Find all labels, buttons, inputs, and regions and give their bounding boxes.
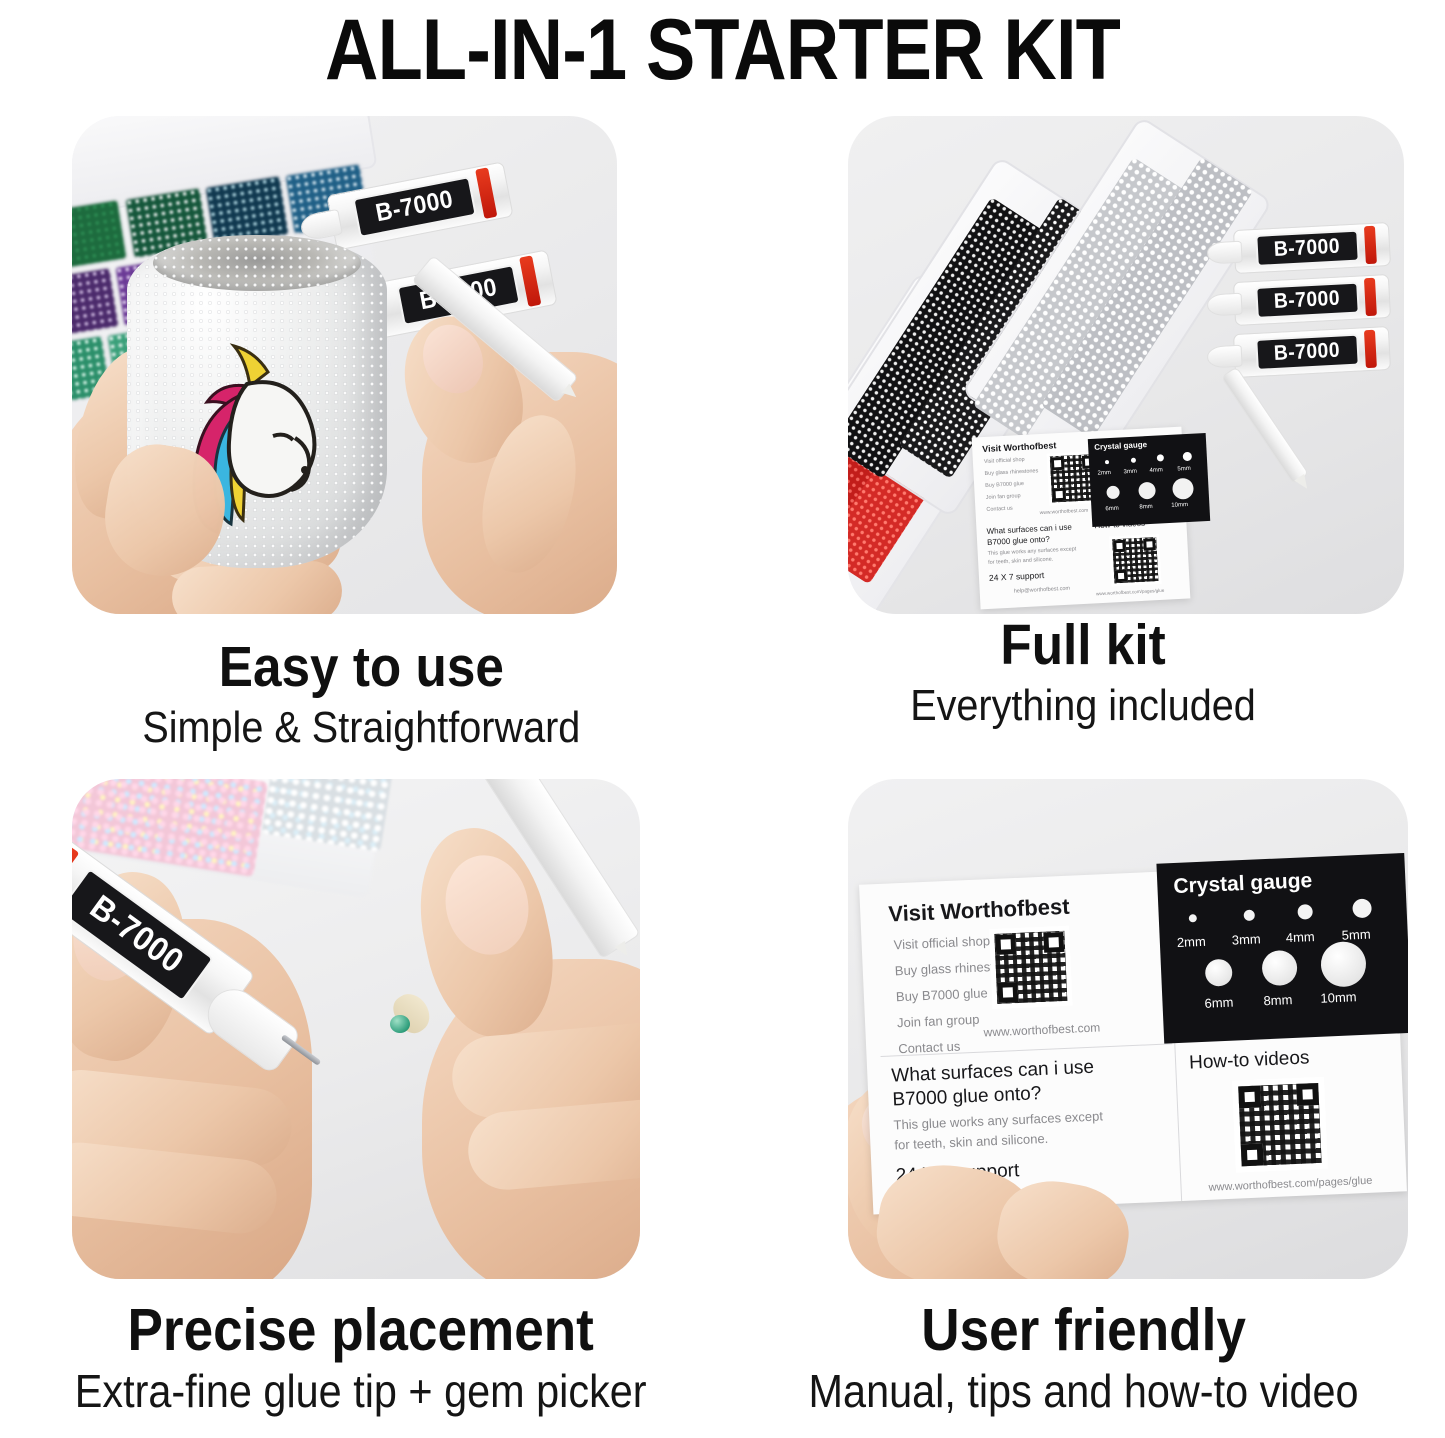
gauge-label: 2mm bbox=[1177, 934, 1207, 950]
glue-tube: B-7000 bbox=[1233, 274, 1391, 326]
glue-tube: B-7000 bbox=[1233, 326, 1391, 378]
gauge-label: 5mm bbox=[1177, 466, 1191, 473]
card-faq-q2: B7000 glue onto? bbox=[987, 535, 1050, 547]
card-bullet: Join fan group bbox=[986, 493, 1021, 501]
glue-tube-stripe bbox=[1364, 225, 1377, 264]
feature-subheading: Extra-fine glue tip + gem picker bbox=[75, 1365, 647, 1417]
card-bullet: Visit official shop bbox=[984, 457, 1025, 465]
gauge-label: 6mm bbox=[1204, 995, 1234, 1011]
feature-card-user-friendly: Visit Worthofbest Visit official shop Bu… bbox=[722, 771, 1445, 1438]
gauge-label: 8mm bbox=[1263, 992, 1293, 1008]
card-faq-q1: What surfaces can i use bbox=[986, 522, 1072, 535]
feature-photo-wrap-user-friendly: Visit Worthofbest Visit official shop Bu… bbox=[722, 771, 1445, 1281]
qr-finder bbox=[1238, 1085, 1261, 1108]
card-bullet: Join fan group bbox=[897, 1012, 980, 1031]
glue-tube-stripe bbox=[1364, 277, 1377, 316]
card-howto-title: How-to videos bbox=[1189, 1047, 1310, 1074]
gauge-label: 3mm bbox=[1231, 931, 1261, 947]
card-shop-url: www.worthofbest.com bbox=[983, 1020, 1100, 1039]
qr-finder bbox=[1115, 570, 1128, 583]
gauge-dot-4mm bbox=[1157, 454, 1164, 461]
card-support-email: help@worthofbest.com bbox=[1014, 586, 1071, 595]
qr-finder bbox=[997, 982, 1018, 1003]
gauge-dot-2mm bbox=[1105, 460, 1109, 464]
photo-precise-placement: B-7000 bbox=[72, 779, 640, 1279]
shop-qr-code bbox=[989, 926, 1072, 1009]
photo-easy-to-use: B-7000 B-7000 bbox=[72, 116, 617, 614]
card-faq-a2: for teeth, skin and silicone. bbox=[894, 1131, 1048, 1153]
glue-tube-nozzle bbox=[1207, 241, 1242, 264]
gauge-label: 4mm bbox=[1285, 929, 1315, 945]
page-title: ALL-IN-1 STARTER KIT bbox=[101, 0, 1344, 98]
card-divider-vertical bbox=[1174, 1043, 1182, 1201]
feature-card-easy-to-use: B-7000 B-7000 bbox=[0, 104, 722, 771]
gauge-dot-3mm bbox=[1131, 458, 1136, 463]
caption-full-kit: Full kit Everything included bbox=[891, 614, 1275, 732]
gauge-label: 10mm bbox=[1320, 989, 1357, 1006]
glue-tube-label: B-7000 bbox=[1255, 334, 1359, 371]
card-faq-a2: for teeth, skin and silicone. bbox=[988, 557, 1053, 566]
feature-photo-wrap-precise-placement: B-7000 bbox=[0, 771, 722, 1281]
gauge-dot-5mm bbox=[1183, 452, 1192, 461]
photo-full-kit: B-7000 B-7000 bbox=[848, 116, 1404, 614]
caption-easy-to-use: Easy to use Simple & Straightforward bbox=[118, 614, 605, 754]
crystal-gauge-title: Crystal gauge bbox=[1094, 440, 1147, 452]
crystal-gauge-card: Crystal gauge 2mm 3mm 4mm 5mm bbox=[1156, 853, 1408, 1044]
qr-finder bbox=[1143, 538, 1156, 551]
instruction-card: Visit Worthofbest Visit official shop Bu… bbox=[859, 862, 1407, 1215]
feature-photo-wrap-full-kit: B-7000 B-7000 bbox=[722, 104, 1445, 614]
gauge-label: 8mm bbox=[1139, 504, 1153, 511]
feature-heading: Full kit bbox=[911, 614, 1257, 676]
feature-heading: User friendly bbox=[808, 1299, 1358, 1361]
feature-card-full-kit: B-7000 B-7000 bbox=[722, 104, 1445, 771]
gauge-label: 5mm bbox=[1341, 927, 1371, 943]
gauge-dot-8mm bbox=[1138, 482, 1156, 500]
feature-subheading: Manual, tips and how-to video bbox=[808, 1365, 1358, 1417]
caption-user-friendly: User friendly Manual, tips and how-to vi… bbox=[778, 1281, 1389, 1417]
gauge-dot-10mm bbox=[1172, 478, 1194, 500]
qr-finder bbox=[995, 934, 1016, 955]
card-bullet: Contact us bbox=[986, 506, 1013, 513]
card-bullet: Buy B7000 glue bbox=[985, 481, 1024, 489]
gauge-dot-6mm bbox=[1205, 959, 1233, 987]
card-visit-title: Visit Worthofbest bbox=[888, 894, 1070, 928]
card-bullet: Buy B7000 glue bbox=[896, 985, 988, 1004]
card-visit-title: Visit Worthofbest bbox=[982, 440, 1057, 454]
feature-heading: Easy to use bbox=[142, 636, 580, 698]
glue-tube-label-text: B-7000 bbox=[1274, 339, 1341, 366]
card-faq-q2: B7000 glue onto? bbox=[892, 1083, 1042, 1111]
card-support-title: 24 X 7 support bbox=[989, 570, 1045, 583]
qr-finder bbox=[1052, 488, 1066, 502]
card-bullet: Buy glass rhinestones bbox=[984, 468, 1038, 477]
gauge-dot-2mm bbox=[1189, 914, 1197, 922]
crystal-gauge-card: Crystal gauge 2mm 3mm 4mm 5mm 6mm 8mm bbox=[1088, 433, 1210, 527]
crystal-gauge-title: Crystal gauge bbox=[1173, 869, 1313, 899]
card-howto-url: www.worthofbest.com/pages/glue bbox=[1096, 588, 1165, 597]
glue-tube-stripe bbox=[1364, 329, 1377, 368]
feature-heading: Precise placement bbox=[75, 1299, 647, 1361]
qr-finder bbox=[1113, 540, 1126, 553]
howto-qr-code bbox=[1232, 1077, 1328, 1173]
gauge-dot-4mm bbox=[1297, 904, 1313, 920]
card-faq-a1: This glue works any surfaces except bbox=[893, 1108, 1103, 1132]
glue-tube-label-text: B-7000 bbox=[1274, 235, 1341, 262]
card-faq-q1: What surfaces can i use bbox=[891, 1057, 1095, 1088]
gauge-dot-10mm bbox=[1320, 941, 1367, 988]
feature-subheading: Simple & Straightforward bbox=[142, 702, 580, 754]
glue-tube-label-text: B-7000 bbox=[1274, 287, 1341, 314]
glue-tube-nozzle bbox=[1207, 293, 1242, 316]
gauge-dot-8mm bbox=[1261, 950, 1297, 986]
card-shop-url: www.worthofbest.com bbox=[1040, 508, 1089, 517]
photo-user-friendly: Visit Worthofbest Visit official shop Bu… bbox=[848, 779, 1408, 1279]
feature-subheading: Everything included bbox=[911, 680, 1257, 732]
gem-picker-pencil bbox=[1221, 366, 1309, 484]
feature-grid: B-7000 B-7000 bbox=[0, 104, 1445, 1438]
glue-tube-nozzle bbox=[1207, 345, 1242, 368]
gauge-label: 3mm bbox=[1123, 469, 1137, 476]
gauge-dot-6mm bbox=[1106, 486, 1120, 500]
product-infographic: ALL-IN-1 STARTER KIT bbox=[0, 0, 1445, 1438]
card-faq-a1: This glue works any surfaces except bbox=[988, 546, 1077, 557]
feature-card-precise-placement: B-7000 bbox=[0, 771, 722, 1438]
card-bullet: Visit official shop bbox=[893, 933, 990, 952]
glue-tube-label: B-7000 bbox=[1255, 282, 1359, 319]
qr-finder bbox=[1241, 1143, 1264, 1166]
qr-finder bbox=[1051, 457, 1065, 471]
qr-finder bbox=[1296, 1083, 1319, 1106]
caption-precise-placement: Precise placement Extra-fine glue tip + … bbox=[43, 1281, 678, 1417]
gauge-label: 4mm bbox=[1149, 467, 1163, 474]
feature-photo-wrap-easy-to-use: B-7000 B-7000 bbox=[0, 104, 722, 614]
picked-up-gem bbox=[390, 1015, 410, 1033]
glue-tube: B-7000 bbox=[1233, 222, 1391, 274]
gauge-dot-5mm bbox=[1352, 898, 1372, 918]
glue-tube-label: B-7000 bbox=[1255, 230, 1359, 267]
card-howto-url: www.worthofbest.com/pages/glue bbox=[1208, 1175, 1372, 1194]
gauge-label: 10mm bbox=[1171, 502, 1188, 509]
gauge-label: 2mm bbox=[1097, 470, 1111, 477]
qr-finder bbox=[1043, 932, 1064, 953]
gem-compartment bbox=[72, 198, 128, 271]
gauge-dot-3mm bbox=[1244, 910, 1255, 921]
howto-qr-code bbox=[1109, 534, 1162, 587]
gauge-label: 6mm bbox=[1105, 506, 1119, 513]
